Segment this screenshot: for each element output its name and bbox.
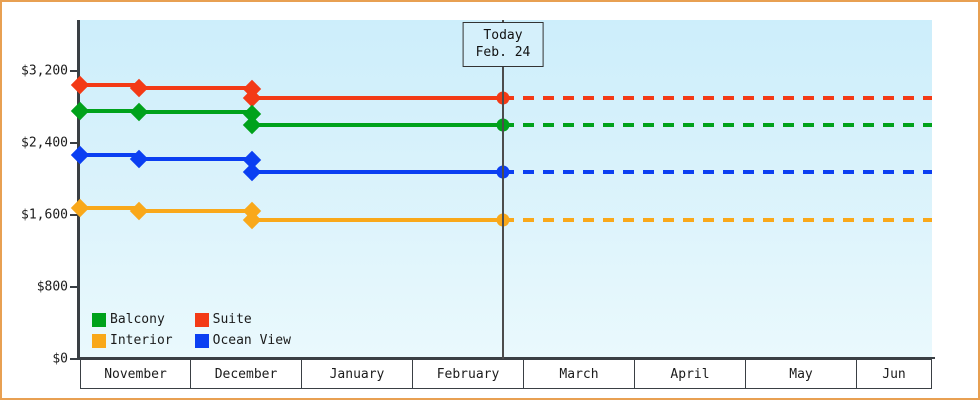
- legend-item[interactable]: Ocean View: [195, 333, 291, 348]
- series-line-segment: [252, 96, 503, 100]
- x-axis-month-cell[interactable]: November: [80, 359, 191, 389]
- legend-color-swatch-icon: [92, 334, 106, 348]
- legend-item-label: Interior: [110, 333, 173, 348]
- y-axis-tick-mark: [70, 70, 78, 72]
- y-axis-tick-label: $2,400: [21, 136, 68, 151]
- series-line-segment: [252, 218, 503, 222]
- today-label-line1: Today: [476, 27, 531, 44]
- y-axis-tick-label: $0: [52, 352, 68, 367]
- x-axis-month-cell[interactable]: December: [191, 359, 302, 389]
- x-axis-month-cell[interactable]: January: [302, 359, 413, 389]
- legend-color-swatch-icon: [92, 313, 106, 327]
- y-axis-tick-label: $1,600: [21, 208, 68, 223]
- series-forecast-dotted-line: [503, 123, 932, 127]
- series-line-segment: [139, 157, 252, 161]
- series-line-segment: [139, 209, 252, 213]
- legend-item[interactable]: Balcony: [92, 312, 173, 327]
- x-axis-month-cell[interactable]: April: [635, 359, 746, 389]
- series-line-segment: [252, 170, 503, 174]
- today-annotation-box: Today Feb. 24: [463, 22, 544, 67]
- legend-color-swatch-icon: [195, 334, 209, 348]
- plot-area: [80, 20, 932, 359]
- x-axis-month-cell[interactable]: March: [524, 359, 635, 389]
- y-axis-tick-label: $800: [37, 280, 68, 295]
- legend-item-label: Ocean View: [213, 333, 291, 348]
- series-line-segment: [139, 110, 252, 114]
- legend-color-swatch-icon: [195, 313, 209, 327]
- x-axis-month-cell[interactable]: Jun: [857, 359, 932, 389]
- chart-frame: $0$800$1,600$2,400$3,200 Today Feb. 24 B…: [0, 0, 980, 400]
- legend-item[interactable]: Suite: [195, 312, 291, 327]
- x-axis-month-cell[interactable]: May: [746, 359, 857, 389]
- series-line-segment: [139, 86, 252, 90]
- chart-legend: BalconySuiteInteriorOcean View: [92, 312, 291, 348]
- x-axis-month-cell[interactable]: February: [413, 359, 524, 389]
- y-axis-tick-label: $3,200: [21, 64, 68, 79]
- series-forecast-dotted-line: [503, 218, 932, 222]
- y-axis-tick-mark: [70, 286, 78, 288]
- today-vertical-line: [502, 20, 504, 359]
- legend-item-label: Suite: [213, 312, 252, 327]
- series-forecast-dotted-line: [503, 170, 932, 174]
- series-line-segment: [252, 123, 503, 127]
- x-axis-month-row: NovemberDecemberJanuaryFebruaryMarchApri…: [80, 359, 932, 389]
- today-label-line2: Feb. 24: [476, 44, 531, 61]
- series-forecast-dotted-line: [503, 96, 932, 100]
- y-axis-tick-mark: [70, 142, 78, 144]
- legend-item-label: Balcony: [110, 312, 165, 327]
- legend-item[interactable]: Interior: [92, 333, 173, 348]
- y-axis-tick-mark: [70, 358, 78, 360]
